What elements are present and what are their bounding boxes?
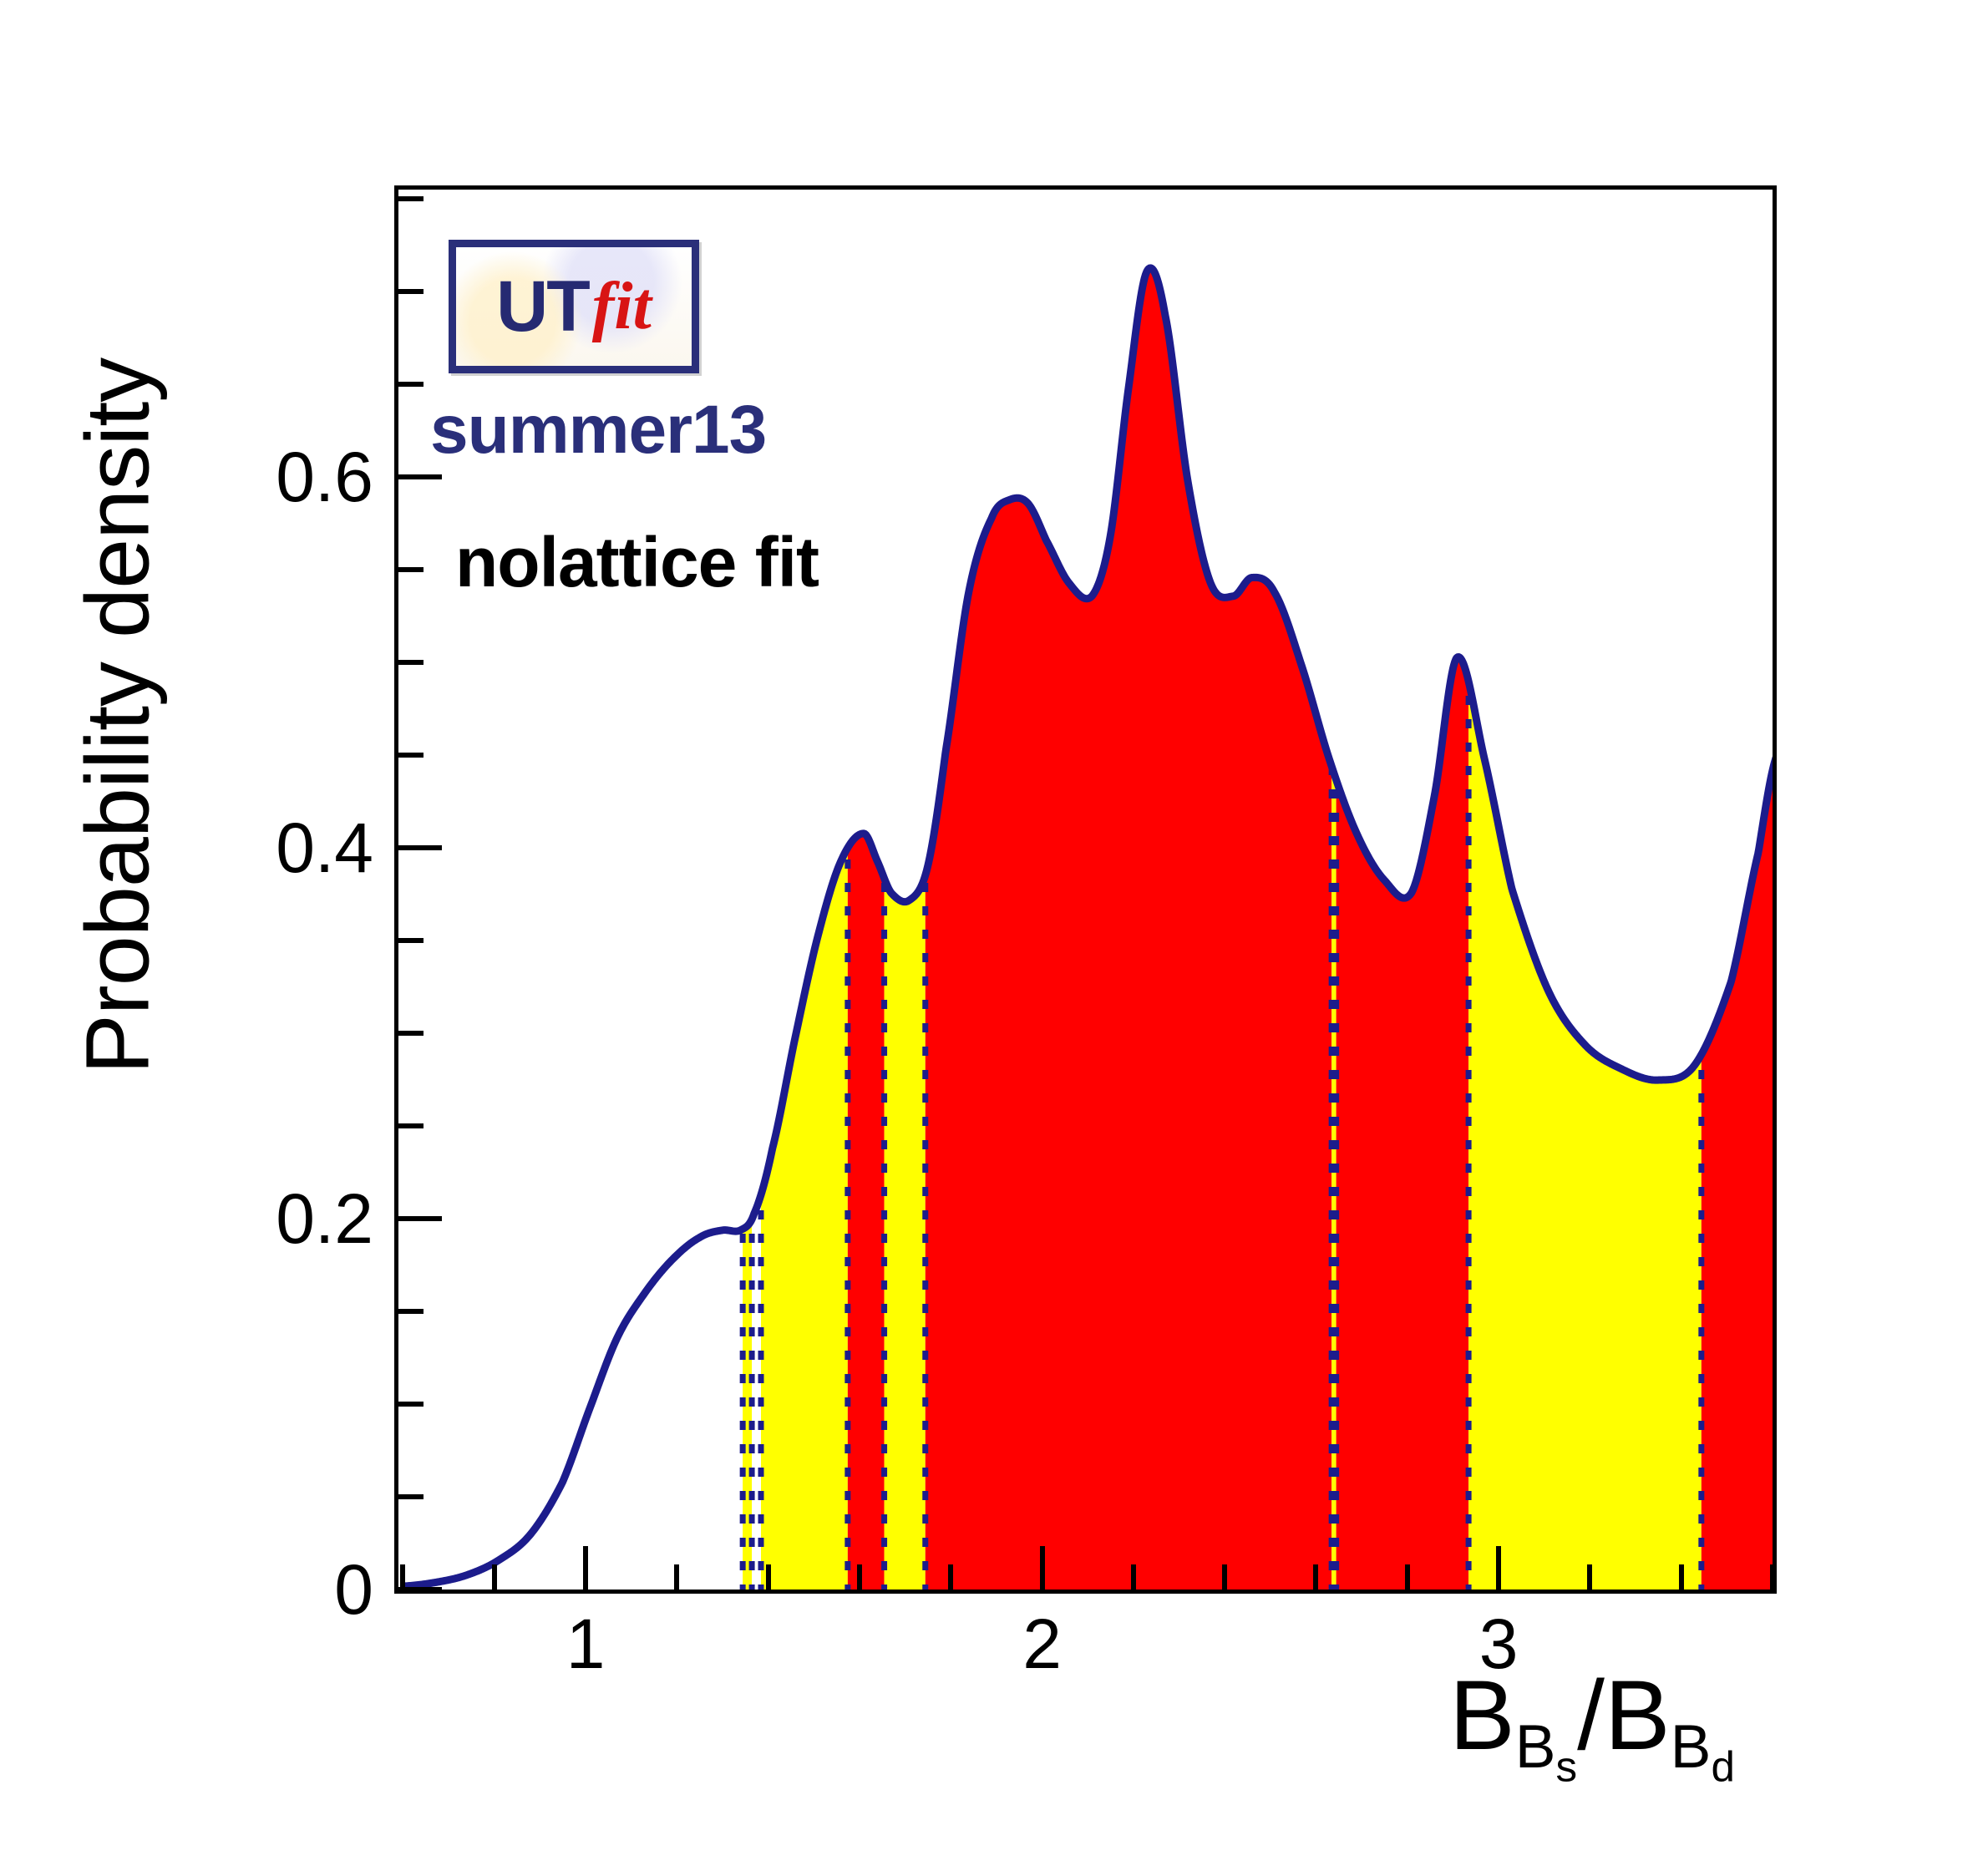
- y-tick-minor-0.45: [398, 753, 424, 758]
- x-tick-minor-0.6: [400, 1564, 405, 1590]
- y-tick-major-0.2: [398, 1216, 442, 1221]
- x-axis-title-den-sub: Bd: [1671, 1712, 1735, 1781]
- y-tick-minor-0.1: [398, 1402, 424, 1407]
- x-axis-title-den-subsub: d: [1711, 1742, 1734, 1790]
- x-tick-minor-1.2: [674, 1564, 679, 1590]
- x-tick-minor-1.8: [948, 1564, 953, 1590]
- y-tick-minor-0.05: [398, 1494, 424, 1499]
- probability-region-95-3: [885, 875, 926, 1590]
- x-tick-label-3: 3: [1448, 1604, 1549, 1685]
- x-axis-title-slash: /: [1577, 1661, 1605, 1771]
- y-tick-major-0.6: [398, 474, 442, 479]
- x-tick-minor-1.6: [857, 1564, 862, 1590]
- y-tick-minor-0.15: [398, 1309, 424, 1314]
- y-tick-label-0: 0: [206, 1549, 373, 1630]
- x-axis-title-den-sub-b: B: [1671, 1712, 1712, 1781]
- probability-region-68-8: [1702, 756, 1773, 1590]
- y-tick-minor-0.55: [398, 567, 424, 572]
- x-tick-minor-1.4: [766, 1564, 771, 1590]
- utfit-logo-fit-text: fit: [592, 273, 652, 340]
- x-tick-minor-2.2: [1131, 1564, 1136, 1590]
- x-tick-label-1: 1: [535, 1604, 636, 1685]
- version-label: summer13: [430, 391, 766, 469]
- y-tick-label-0.6: 0.6: [206, 437, 373, 518]
- x-tick-label-2: 2: [992, 1604, 1093, 1685]
- y-tick-label-0.4: 0.4: [206, 808, 373, 889]
- x-axis-title-num-sub: Bs: [1515, 1712, 1577, 1781]
- x-tick-minor-2.4: [1222, 1564, 1227, 1590]
- x-tick-major-1: [583, 1546, 588, 1590]
- chart-root: Probability density BBs/BBd 12300.20.40.…: [0, 0, 1973, 1876]
- y-tick-minor-0.75: [398, 196, 424, 201]
- probability-region-95-7: [1468, 682, 1702, 1590]
- x-tick-minor-2.6: [1313, 1564, 1318, 1590]
- probability-region-68-4: [926, 268, 1331, 1590]
- utfit-logo-inner: UTfit: [456, 247, 692, 366]
- y-tick-minor-0.7: [398, 289, 424, 294]
- x-tick-minor-3.4: [1679, 1564, 1684, 1590]
- y-axis-title: Probability density: [65, 349, 170, 1084]
- x-tick-minor-0.8: [492, 1564, 497, 1590]
- x-tick-major-3: [1496, 1546, 1501, 1590]
- y-tick-major-0: [398, 1587, 442, 1592]
- probability-region-95-1: [761, 848, 848, 1590]
- x-axis-title-num-subsub: s: [1556, 1742, 1578, 1790]
- x-axis-title-denominator: B: [1605, 1661, 1671, 1771]
- y-tick-minor-0.25: [398, 1123, 424, 1128]
- x-axis-title-num-sub-b: B: [1515, 1712, 1556, 1781]
- probability-region-68-2: [848, 834, 885, 1590]
- y-tick-minor-0.5: [398, 660, 424, 665]
- utfit-logo: UTfit: [449, 240, 699, 373]
- x-tick-minor-3.6: [1770, 1564, 1775, 1590]
- x-tick-minor-3.2: [1587, 1564, 1592, 1590]
- y-tick-major-0.4: [398, 845, 442, 850]
- fit-type-label: nolattice fit: [455, 522, 819, 603]
- x-tick-major-2: [1040, 1546, 1045, 1590]
- y-tick-minor-0.35: [398, 938, 424, 943]
- y-tick-label-0.2: 0.2: [206, 1179, 373, 1260]
- x-tick-minor-2.8: [1405, 1564, 1410, 1590]
- utfit-logo-ut-text: UT: [496, 271, 589, 342]
- probability-region-68-6: [1336, 657, 1468, 1590]
- y-tick-minor-0.3: [398, 1031, 424, 1036]
- y-tick-minor-0.65: [398, 382, 424, 387]
